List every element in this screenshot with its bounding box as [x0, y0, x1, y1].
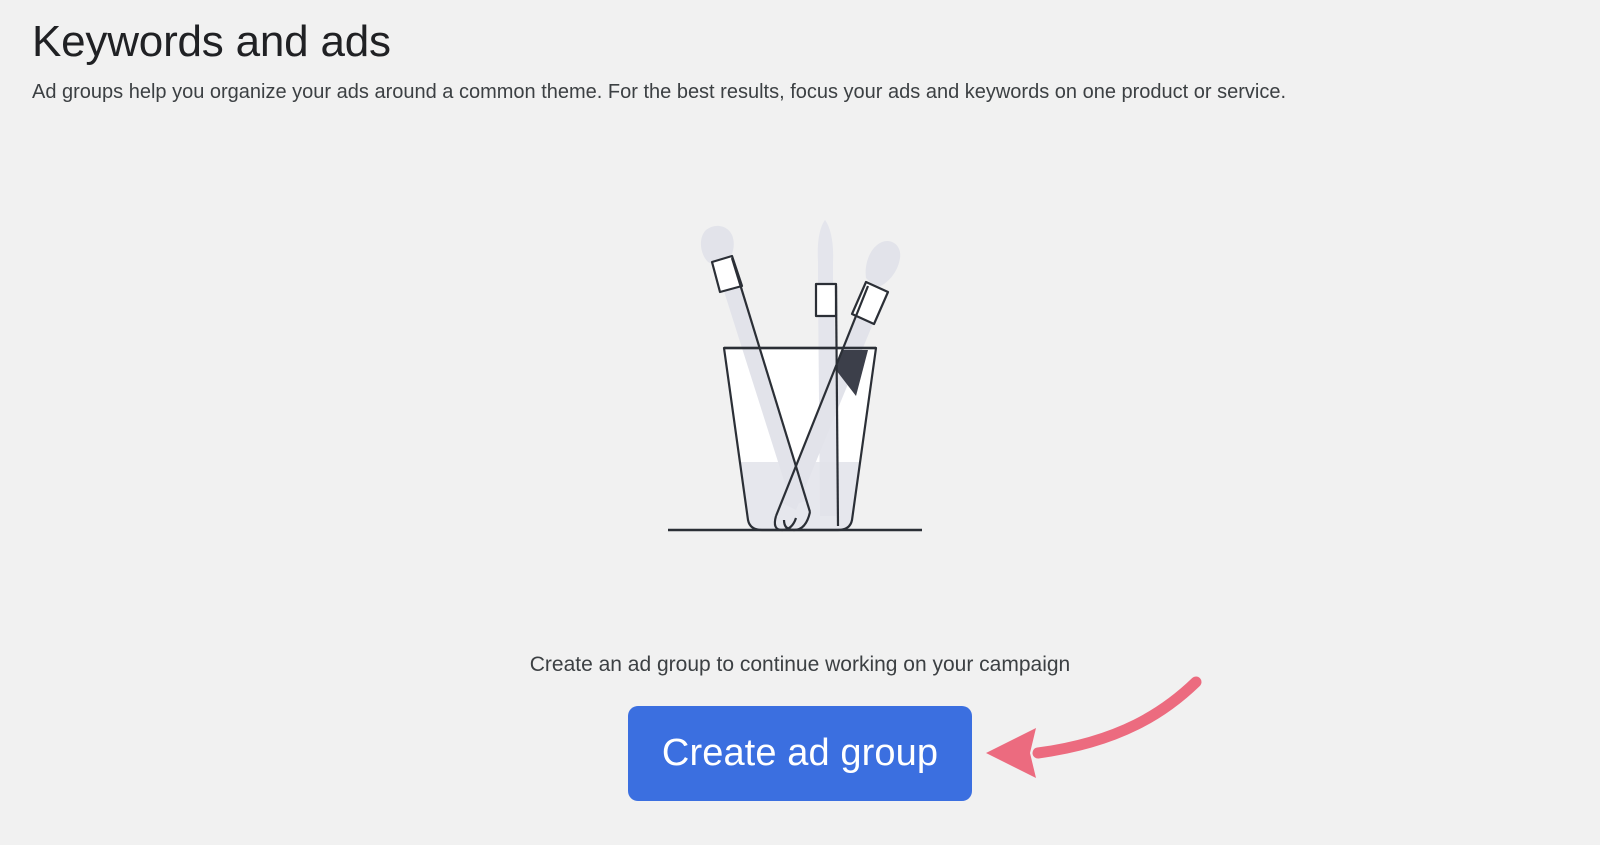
- call-to-action-block: Create an ad group to continue working o…: [0, 650, 1600, 801]
- brush-right-bristle-shape: [866, 241, 901, 288]
- brush-middle-bristle-shape: [818, 220, 833, 288]
- page-title: Keywords and ads: [32, 14, 1552, 70]
- cup-of-paint-brushes-illustration: [620, 200, 980, 550]
- cta-caption: Create an ad group to continue working o…: [0, 650, 1600, 680]
- page-description: Ad groups help you organize your ads aro…: [32, 74, 1547, 110]
- illustration-svg: [620, 200, 980, 550]
- create-ad-group-button[interactable]: Create ad group: [628, 706, 972, 801]
- glass-lower-shade: [724, 462, 876, 536]
- page-header: Keywords and ads Ad groups help you orga…: [32, 14, 1552, 110]
- brush-middle-ferrule: [816, 284, 836, 316]
